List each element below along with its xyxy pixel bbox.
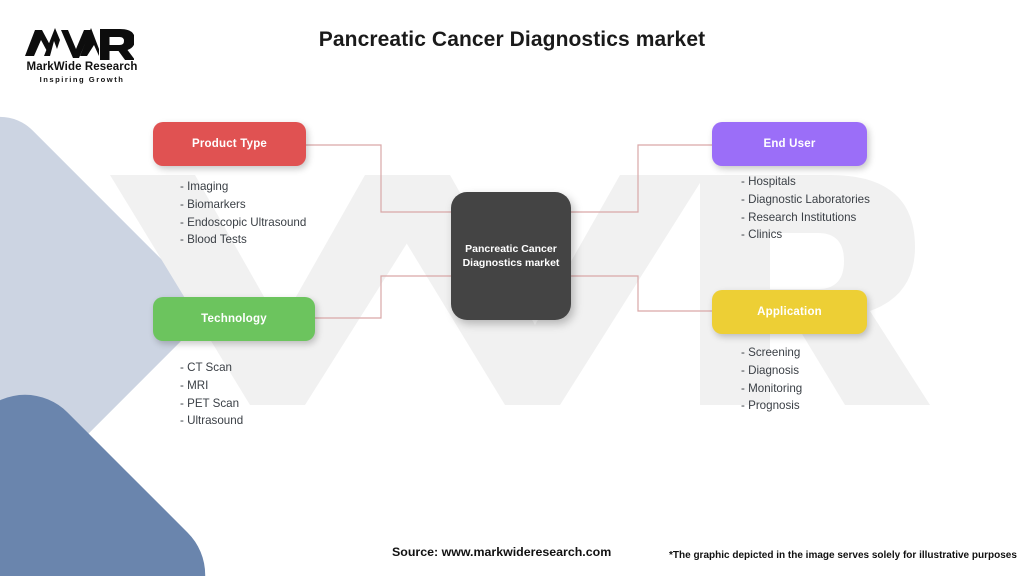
list-item: - Prognosis [741,397,802,415]
list-item: - Screening [741,344,802,362]
branch-list-application: - Screening - Diagnosis - Monitoring - P… [741,344,802,415]
infographic-canvas: MarkWide Research Inspiring Growth Pancr… [0,0,1024,576]
center-node-line2: Diagnostics market [463,257,560,269]
connector-technology [315,276,452,318]
list-item: - Monitoring [741,380,802,398]
list-item: - Imaging [180,178,306,196]
list-item: - Clinics [741,226,870,244]
list-item: - CT Scan [180,359,243,377]
list-item: - PET Scan [180,395,243,413]
list-item: - Biomarkers [180,196,306,214]
list-item: - Endoscopic Ultrasound [180,214,306,232]
list-item: - Blood Tests [180,231,306,249]
branch-list-product-type: - Imaging - Biomarkers - Endoscopic Ultr… [180,178,306,249]
branch-label-application: Application [757,306,822,318]
branch-label-end-user: End User [763,138,815,150]
list-item: - Hospitals [741,173,870,191]
list-item: - Research Institutions [741,209,870,227]
branch-node-application[interactable]: Application [712,290,867,334]
source-text: Source: www.markwideresearch.com [392,545,611,559]
branch-node-product-type[interactable]: Product Type [153,122,306,166]
branch-list-technology: - CT Scan - MRI - PET Scan - Ultrasound [180,359,243,430]
list-item: - MRI [180,377,243,395]
branch-node-end-user[interactable]: End User [712,122,867,166]
branch-list-end-user: - Hospitals - Diagnostic Laboratories - … [741,173,870,244]
list-item: - Diagnosis [741,362,802,380]
connector-application [570,276,712,311]
center-node-line1: Pancreatic Cancer [465,243,557,255]
branch-label-product-type: Product Type [192,138,267,150]
connector-end-user [570,145,712,212]
disclaimer-text: *The graphic depicted in the image serve… [669,550,1017,561]
connector-product-type [306,145,452,212]
list-item: - Ultrasound [180,412,243,430]
list-item: - Diagnostic Laboratories [741,191,870,209]
branch-label-technology: Technology [201,313,267,325]
branch-node-technology[interactable]: Technology [153,297,315,341]
center-node[interactable]: Pancreatic Cancer Diagnostics market [451,192,571,320]
